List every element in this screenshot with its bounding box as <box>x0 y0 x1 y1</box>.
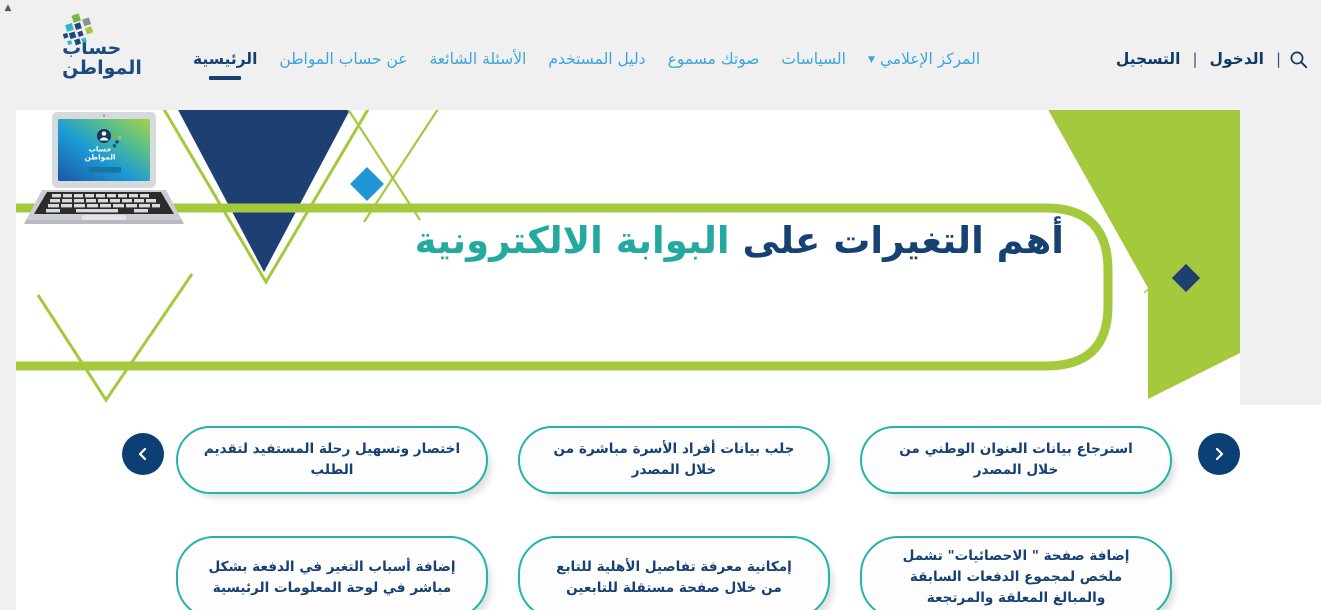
svg-text:المواطن: المواطن <box>84 153 115 162</box>
carousel-prev-button[interactable] <box>122 433 164 475</box>
nav-item-label: المركز الإعلامي <box>880 50 980 68</box>
nav-item-media-center[interactable]: المركز الإعلامي ▼ <box>857 36 991 82</box>
nav-item-label: عن حساب المواطن <box>279 50 407 68</box>
citizen-account-logo-icon <box>54 13 100 59</box>
chevron-left-icon <box>135 446 151 462</box>
green-polygon-decoration <box>1046 110 1240 399</box>
feature-card[interactable]: إمكانية معرفة تفاصيل الأهلية للتابع من خ… <box>518 536 830 610</box>
nav-item-label: صوتك مسموع <box>668 50 760 68</box>
feature-card[interactable]: اختصار وتسهيل رحلة المستفيد لتقديم الطلب <box>176 426 488 494</box>
feature-card[interactable]: جلب بيانات أفراد الأسرة مباشرة من خلال ا… <box>518 426 830 494</box>
nav-item-policies[interactable]: السياسات <box>770 36 857 82</box>
navy-triangle-decoration <box>176 110 352 272</box>
nav-item-home[interactable]: الرئيسية <box>182 36 268 82</box>
scrollbar-thumb[interactable] <box>2 17 14 117</box>
hero-title: أهم التغيرات على البوابة الالكترونية <box>415 220 1064 263</box>
search-icon[interactable] <box>1285 46 1311 72</box>
carousel-row-2: إضافة أسباب التغير في الدفعة بشكل مباشر … <box>176 536 1201 610</box>
features-carousel: اختصار وتسهيل رحلة المستفيد لتقديم الطلب… <box>16 405 1321 610</box>
nav-item-label: دليل المستخدم <box>548 50 645 68</box>
nav-item-about[interactable]: عن حساب المواطن <box>268 36 418 82</box>
page-scrollbar[interactable]: ▲ <box>0 0 16 610</box>
feature-card[interactable]: إضافة صفحة " الاحصائيات" تشمل ملخص لمجمو… <box>860 536 1172 610</box>
chevron-down-icon: ▼ <box>868 56 875 65</box>
laptop-illustration: حساب المواطن <box>16 110 191 232</box>
hero-title-part1: أهم التغيرات على <box>743 219 1064 262</box>
logo-text-line2: المواطن <box>62 59 142 79</box>
auth-links: التسجيل | الدخول | <box>1096 0 1321 110</box>
main-navigation: الرئيسية عن حساب المواطن الأسئلة الشائعة… <box>182 0 1096 110</box>
chevron-right-icon <box>1211 446 1227 462</box>
carousel-row-1: اختصار وتسهيل رحلة المستفيد لتقديم الطلب… <box>176 426 1201 494</box>
feature-card[interactable]: إضافة أسباب التغير في الدفعة بشكل مباشر … <box>176 536 488 610</box>
hero-banner: أهم التغيرات على البوابة الالكترونية حسا… <box>16 110 1240 405</box>
auth-separator-2: | <box>1276 50 1281 68</box>
carousel-cards: اختصار وتسهيل رحلة المستفيد لتقديم الطلب… <box>176 405 1201 610</box>
logo-inner: حساب المواطن <box>62 31 142 79</box>
nav-item-faq[interactable]: الأسئلة الشائعة <box>419 36 538 82</box>
search-glyph <box>1289 50 1308 69</box>
nav-item-your-voice[interactable]: صوتك مسموع <box>657 36 771 82</box>
site-header: حساب المواطن الرئيسية عن حساب المواطن ال… <box>16 0 1321 110</box>
blue-diamond-decoration <box>350 167 384 201</box>
auth-separator-1: | <box>1192 50 1197 68</box>
feature-card[interactable]: استرجاع بيانات العنوان الوطني من خلال ال… <box>860 426 1172 494</box>
site-logo[interactable]: حساب المواطن <box>22 0 182 110</box>
register-link[interactable]: التسجيل <box>1104 50 1193 68</box>
nav-item-label: الرئيسية <box>193 50 257 68</box>
scroll-up-arrow-icon[interactable]: ▲ <box>0 0 16 16</box>
green-chevron-outline-lower-left <box>38 274 192 400</box>
nav-item-label: الأسئلة الشائعة <box>430 50 527 68</box>
page-root: ▲ <box>0 0 1321 610</box>
hero-title-part2: البوابة الالكترونية <box>415 219 730 262</box>
login-link[interactable]: الدخول <box>1198 50 1276 68</box>
nav-item-user-guide[interactable]: دليل المستخدم <box>537 36 656 82</box>
carousel-next-button[interactable] <box>1198 433 1240 475</box>
nav-item-label: السياسات <box>781 50 846 68</box>
